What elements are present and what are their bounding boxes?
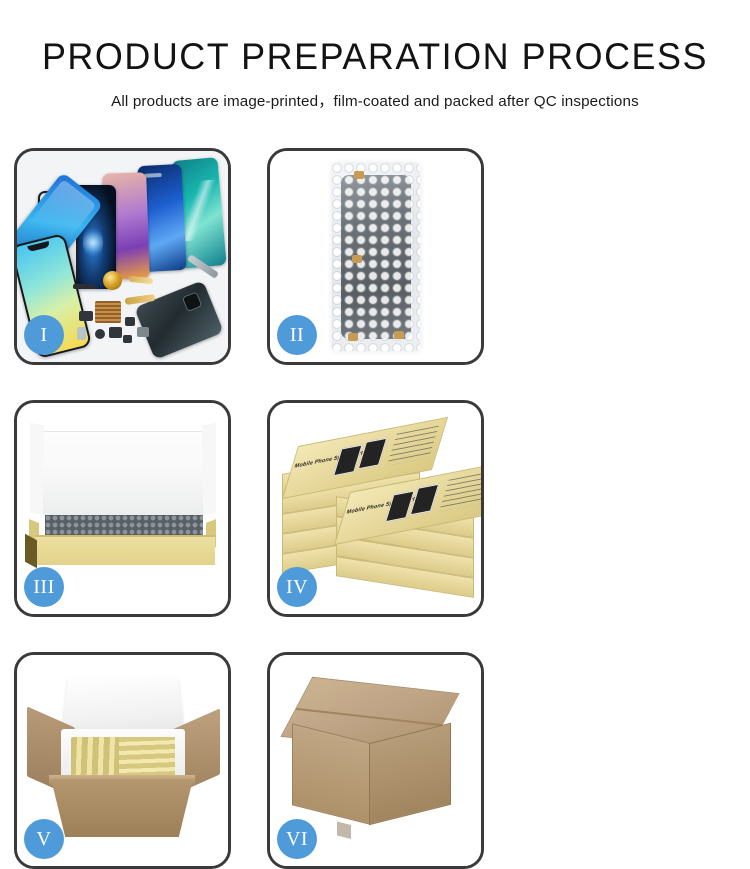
small-part-6 xyxy=(137,327,149,337)
small-part-1 xyxy=(79,311,93,321)
process-step-panel-4[interactable]: Mobile Phone Spare Parts Mobile Phone Sp… xyxy=(267,400,484,617)
small-part-2 xyxy=(77,327,86,340)
box-artwork-chip-2 xyxy=(358,438,387,470)
box-artwork-chip-1 xyxy=(333,444,362,476)
tape-piece-4 xyxy=(394,331,404,339)
step-badge-3: III xyxy=(24,567,64,607)
bubble-padding-fill xyxy=(45,515,203,537)
small-part-7 xyxy=(123,335,132,343)
process-panel-grid: I II III xyxy=(14,148,736,869)
step-badge-1: I xyxy=(24,315,64,355)
tape-piece-3 xyxy=(348,333,358,341)
bubble-wrap-package xyxy=(332,163,420,351)
small-part-4 xyxy=(109,327,122,338)
box-front-panel xyxy=(35,535,215,565)
step-badge-2: II xyxy=(277,315,317,355)
step-badge-6: VI xyxy=(277,819,317,859)
small-part-3 xyxy=(95,329,105,339)
carton-tab-upper xyxy=(337,821,351,838)
speaker-coil-part xyxy=(103,271,122,290)
process-step-panel-5[interactable]: V xyxy=(14,652,231,869)
step-badge-5: V xyxy=(24,819,64,859)
copper-grid-part xyxy=(95,301,121,323)
box-spec-text-rear xyxy=(387,426,439,466)
box-artwork-chip-3 xyxy=(385,490,414,522)
box-artwork-chip-4 xyxy=(410,484,439,516)
box-spec-text-front xyxy=(439,472,481,512)
page-subtitle: All products are image-printed，film-coat… xyxy=(0,89,750,111)
battery-connector-part xyxy=(73,284,95,289)
flex-cable-part-b xyxy=(129,276,153,284)
styrofoam-lid xyxy=(61,676,184,735)
carton-body xyxy=(51,779,193,837)
small-part-5 xyxy=(125,317,135,326)
tape-piece-2 xyxy=(352,255,362,263)
packed-yellow-boxes xyxy=(71,737,175,777)
process-step-panel-1[interactable]: I xyxy=(14,148,231,365)
tape-piece-1 xyxy=(354,171,364,179)
process-step-panel-6[interactable]: VI xyxy=(267,652,484,869)
process-step-panel-3[interactable]: III xyxy=(14,400,231,617)
phone-back-housing xyxy=(134,280,224,360)
page-title: PRODUCT PREPARATION PROCESS xyxy=(11,38,739,75)
process-step-panel-2[interactable]: II xyxy=(267,148,484,365)
page-header: PRODUCT PREPARATION PROCESS All products… xyxy=(0,0,750,111)
foam-liner xyxy=(43,461,203,515)
step-badge-4: IV xyxy=(277,567,317,607)
